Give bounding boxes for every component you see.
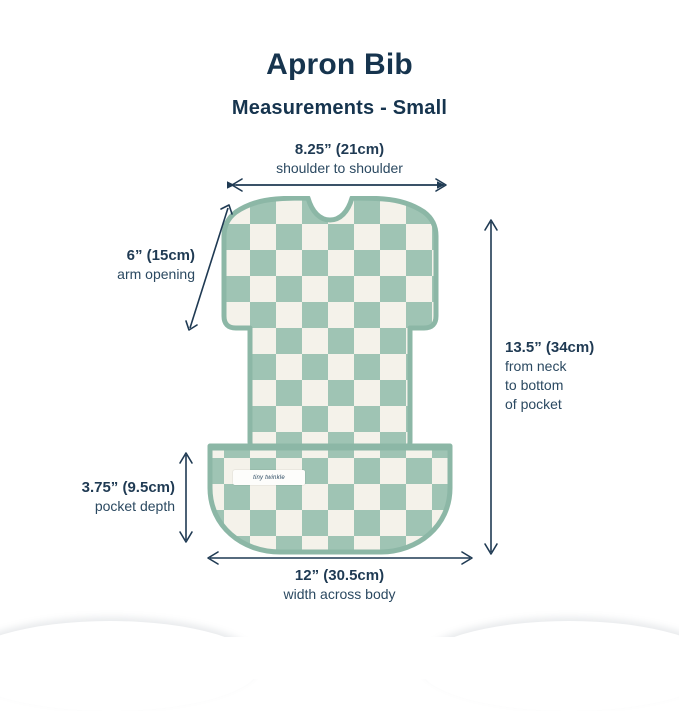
neck-to-pocket-caption-2: to bottom	[505, 376, 675, 395]
label-width-across-body: 12” (30.5cm) width across body	[0, 566, 679, 604]
shoulder-value: 8.25” (21cm)	[0, 140, 679, 159]
neck-to-pocket-caption-3: of pocket	[505, 395, 675, 414]
neck-to-pocket-caption-1: from neck	[505, 357, 675, 376]
arrow-pocket-depth	[180, 453, 192, 542]
page-title: Apron Bib	[0, 48, 679, 82]
apron-bib-illustration	[196, 196, 464, 556]
page-subtitle: Measurements - Small	[0, 97, 679, 120]
pocket-depth-caption: pocket depth	[0, 497, 175, 516]
arrow-neck-to-pocket	[485, 220, 497, 554]
label-neck-to-pocket: 13.5” (34cm) from neck to bottom of pock…	[505, 338, 675, 414]
arrow-shoulder-to-shoulder	[232, 179, 446, 191]
width-value: 12” (30.5cm)	[0, 566, 679, 585]
diagram-canvas: Apron Bib Measurements - Small	[0, 0, 679, 679]
neck-to-pocket-value: 13.5” (34cm)	[505, 338, 675, 357]
label-shoulder-to-shoulder: 8.25” (21cm) shoulder to shoulder	[0, 140, 679, 178]
page-bottom-cover	[0, 637, 679, 679]
brand-tag: tiny twinkle	[233, 470, 305, 485]
label-pocket-depth: 3.75” (9.5cm) pocket depth	[0, 478, 175, 516]
label-arm-opening: 6” (15cm) arm opening	[10, 246, 195, 284]
width-caption: width across body	[0, 585, 679, 604]
pocket-depth-value: 3.75” (9.5cm)	[0, 478, 175, 497]
arm-opening-value: 6” (15cm)	[10, 246, 195, 265]
arm-opening-caption: arm opening	[10, 265, 195, 284]
shoulder-caption: shoulder to shoulder	[0, 159, 679, 178]
